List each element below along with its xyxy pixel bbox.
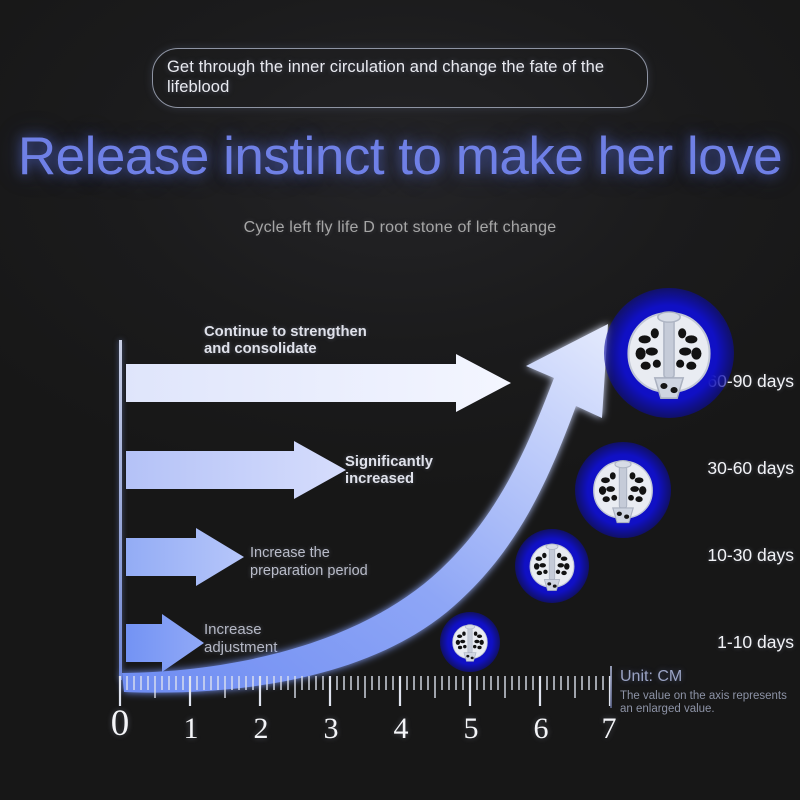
anatomy-cross-section-icon <box>515 529 589 603</box>
poster-canvas: Get through the inner circulation and ch… <box>0 0 800 800</box>
scan-thumbnail-1 <box>440 612 500 672</box>
y-axis-label-1-10-days: 1-10 days <box>684 632 800 653</box>
unit-label: Unit: CM <box>620 668 682 686</box>
scan-thumbnail-2 <box>515 529 589 603</box>
x-tick-4: 4 <box>381 714 421 744</box>
y-axis-label-10-30-days: 10-30 days <box>684 545 800 566</box>
x-tick-5: 5 <box>451 714 491 744</box>
unit-note: The value on the axis represents an enla… <box>620 690 800 716</box>
anatomy-cross-section-icon <box>575 442 671 538</box>
scan-thumbnail-4 <box>604 288 734 418</box>
x-tick-2: 2 <box>241 714 281 744</box>
page-subtitle: Cycle left fly life D root stone of left… <box>0 219 800 237</box>
x-tick-0: 0 <box>100 709 140 739</box>
banner-tagline: Get through the inner circulation and ch… <box>152 48 648 108</box>
x-tick-3: 3 <box>311 714 351 744</box>
anatomy-cross-section-icon <box>604 288 734 418</box>
x-axis-ruler <box>110 672 630 710</box>
anatomy-cross-section-icon <box>440 612 500 672</box>
x-tick-7: 7 <box>589 714 629 744</box>
x-tick-1: 1 <box>171 714 211 744</box>
x-tick-6: 6 <box>521 714 561 744</box>
y-axis-label-30-60-days: 30-60 days <box>684 458 800 479</box>
scan-thumbnail-3 <box>575 442 671 538</box>
unit-divider <box>610 666 612 708</box>
page-title: Release instinct to make her love <box>0 126 800 188</box>
